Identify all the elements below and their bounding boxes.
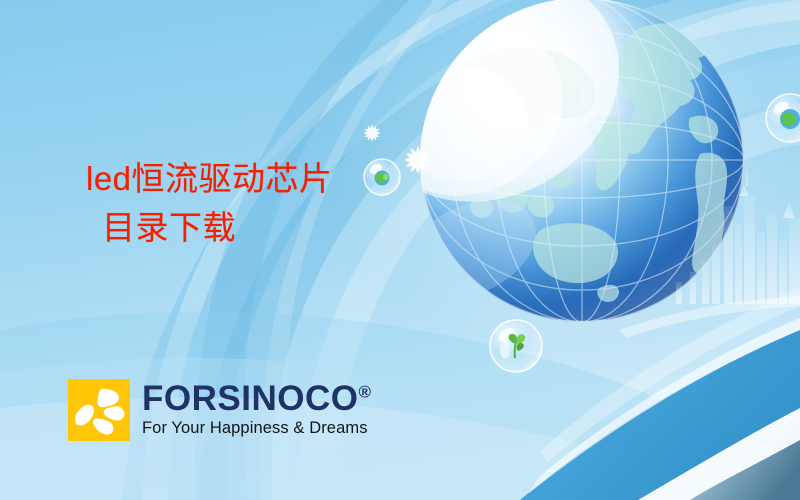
- bubble-globe-icon: [375, 171, 390, 186]
- headline-text: led恒流驱动芯片 目录下载: [78, 158, 333, 249]
- registered-mark-icon: ®: [358, 382, 371, 401]
- headline-line-1: led恒流驱动芯片: [78, 158, 333, 200]
- bubble-with-globe: [364, 159, 400, 195]
- sparkle-flower-small: [364, 125, 380, 141]
- slide-canvas: led恒流驱动芯片 目录下载 FORSINOCO® For Your Happi…: [0, 0, 800, 500]
- brand-name-text: FORSINOCO: [142, 379, 358, 418]
- logo-wordmark: FORSINOCO® For Your Happiness & Dreams: [142, 379, 371, 438]
- company-logo: FORSINOCO® For Your Happiness & Dreams: [68, 379, 371, 441]
- brand-tagline: For Your Happiness & Dreams: [142, 419, 371, 438]
- bubble-globe-icon-right: [780, 109, 800, 129]
- four-petal-pinwheel-icon: [68, 379, 130, 441]
- headline-line-2: 目录下载: [78, 207, 333, 249]
- bubble-with-leaf: [490, 320, 542, 372]
- sparkle-flower-large: [405, 147, 431, 173]
- brand-name: FORSINOCO®: [142, 381, 371, 416]
- bubble-with-globe-right: [766, 94, 800, 142]
- pinwheel-glyph: [68, 379, 130, 441]
